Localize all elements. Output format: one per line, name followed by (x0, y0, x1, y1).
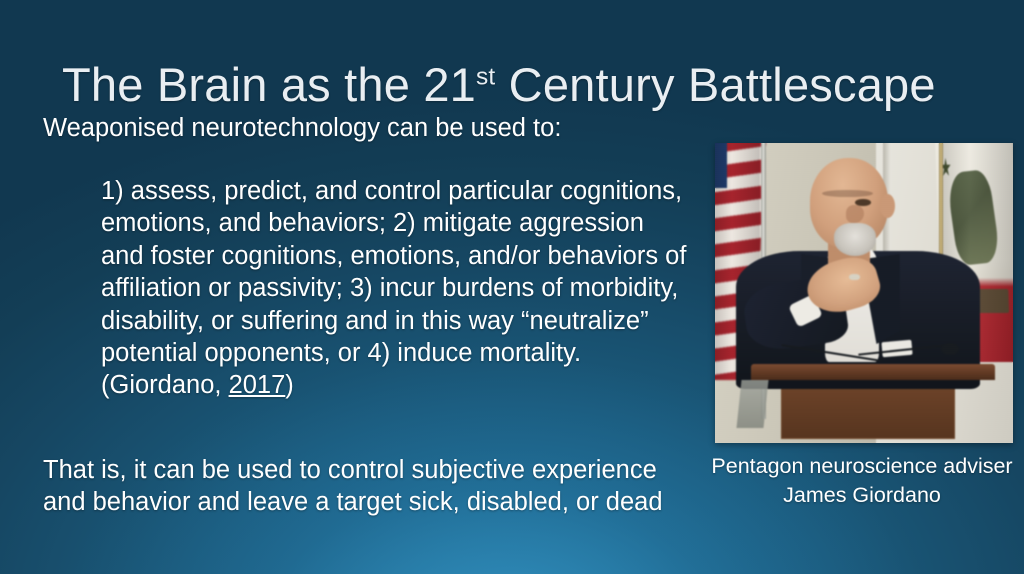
title-text-before: The Brain as the 21 (62, 58, 476, 111)
presentation-slide: The Brain as the 21st Century Battlescap… (0, 0, 1024, 574)
podium-side-light (736, 380, 768, 428)
closing-paragraph-text: That is, it can be used to control subje… (43, 454, 683, 519)
title-superscript: st (476, 64, 495, 91)
lead-line-text: Weaponised neurotechnology can be used t… (43, 112, 703, 144)
speaker-ring (849, 274, 859, 281)
title-text-after: Century Battlescape (495, 58, 935, 111)
speaker-nose (846, 205, 864, 223)
citation-year-link[interactable]: 2017 (229, 371, 286, 399)
list-paragraph-text-end: ) (285, 371, 294, 399)
podium-front-panel (781, 389, 956, 439)
photo-content (715, 143, 1013, 443)
photo-caption: Pentagon neuroscience adviser James Gior… (700, 452, 1024, 509)
speaker-goatee (834, 223, 876, 256)
photo-james-giordano (715, 143, 1013, 443)
list-paragraph-text: 1) assess, predict, and control particul… (101, 177, 686, 399)
microphone-head (941, 343, 959, 355)
numbered-list-paragraph: 1) assess, predict, and control particul… (101, 175, 691, 402)
slide-title: The Brain as the 21st Century Battlescap… (62, 59, 972, 112)
